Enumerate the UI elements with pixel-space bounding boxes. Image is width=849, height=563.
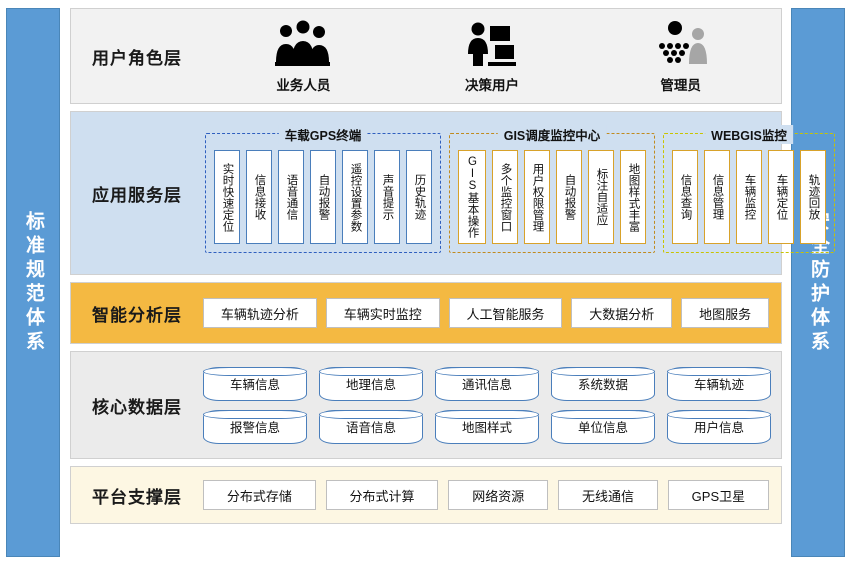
data-store-map-style[interactable]: 地图样式 [435,410,539,444]
layer-intelligent-analysis: 智能分析层 车辆轨迹分析 车辆实时监控 人工智能服务 大数据分析 地图服务 [70,282,782,344]
app-cell-auto-alarm[interactable]: 自动报警 [310,150,336,244]
person-presentation-icon [466,18,518,70]
app-cell-track-playback[interactable]: 轨迹回放 [800,150,826,244]
group-vehicle-gps-terminal: 车载GPS终端 实时快速定位 信息接收 语音通信 自动报警 遥控设置参数 声音提… [205,133,441,253]
layer-core-data-title: 核心数据层 [71,352,203,458]
app-cell-history-track[interactable]: 历史轨迹 [406,150,432,244]
role-administrator: 管理员 [606,18,756,94]
data-store-map-style-label: 地图样式 [462,417,512,436]
layer-intelligent-analysis-body: 车辆轨迹分析 车辆实时监控 人工智能服务 大数据分析 地图服务 [203,283,781,343]
group-webgis-monitor: WEBGIS监控 信息查询 信息管理 车辆监控 车辆定位 轨迹回放 [663,133,835,253]
layer-application-service-body: 车载GPS终端 实时快速定位 信息接收 语音通信 自动报警 遥控设置参数 声音提… [203,112,843,274]
group-webgis-monitor-title: WEBGIS监控 [705,125,793,144]
data-store-vehicle-track[interactable]: 车辆轨迹 [667,367,771,401]
app-cell-vehicle-positioning[interactable]: 车辆定位 [768,150,794,244]
app-cell-info-receive[interactable]: 信息接收 [246,150,272,244]
data-store-geo-info[interactable]: 地理信息 [319,367,423,401]
app-cell-annotation-adaptive[interactable]: 标注自适应 [588,150,614,244]
data-store-user-info[interactable]: 用户信息 [667,410,771,444]
layer-intelligent-analysis-title: 智能分析层 [71,283,203,343]
data-store-user-info-label: 用户信息 [694,417,744,436]
app-cell-multi-monitor-windows[interactable]: 多个监控窗口 [492,150,518,244]
platform-item-gps-satellite[interactable]: GPS卫星 [668,480,769,510]
data-store-unit-info[interactable]: 单位信息 [551,410,655,444]
platform-item-distributed-storage[interactable]: 分布式存储 [203,480,316,510]
role-business-staff-label: 业务人员 [276,74,330,94]
layer-user-role: 用户角色层 [70,8,782,104]
app-cell-gis-basic-ops[interactable]: GIS基本操作 [458,150,486,244]
app-cell-voice-comm[interactable]: 语音通信 [278,150,304,244]
data-store-unit-info-label: 单位信息 [578,417,628,436]
layer-stack: 用户角色层 [70,8,782,524]
layer-platform-support-body: 分布式存储 分布式计算 网络资源 无线通信 GPS卫星 [203,467,781,523]
admin-person-icon [653,18,709,70]
role-business-staff: 业务人员 [228,18,378,94]
analysis-item-vehicle-track-analysis[interactable]: 车辆轨迹分析 [203,298,317,328]
app-cell-info-manage[interactable]: 信息管理 [704,150,730,244]
app-cell-info-query[interactable]: 信息查询 [672,150,698,244]
data-store-system-data[interactable]: 系统数据 [551,367,655,401]
analysis-item-big-data-analysis[interactable]: 大数据分析 [571,298,672,328]
app-cell-gis-auto-alarm[interactable]: 自动报警 [556,150,582,244]
data-store-comm-info-label: 通讯信息 [462,374,512,393]
app-cell-rich-map-styles[interactable]: 地图样式丰富 [620,150,646,244]
left-pillar-label: 标准规范体系 [23,211,43,355]
data-store-vehicle-track-label: 车辆轨迹 [694,374,744,393]
layer-platform-support: 平台支撑层 分布式存储 分布式计算 网络资源 无线通信 GPS卫星 [70,466,782,524]
role-decision-user: 决策用户 [417,18,567,94]
data-store-system-data-label: 系统数据 [578,374,628,393]
core-data-row-2: 报警信息 语音信息 地图样式 单位信息 用户信息 [203,410,771,444]
platform-item-distributed-computing[interactable]: 分布式计算 [326,480,439,510]
group-gis-dispatch-center: GIS调度监控中心 GIS基本操作 多个监控窗口 用户权限管理 自动报警 标注自… [449,133,655,253]
platform-item-wireless-comm[interactable]: 无线通信 [558,480,658,510]
analysis-item-map-service[interactable]: 地图服务 [681,298,769,328]
layer-application-service: 应用服务层 车载GPS终端 实时快速定位 信息接收 语音通信 自动报警 遥控设置… [70,111,782,275]
left-pillar-standard-system: 标准规范体系 [6,8,60,557]
data-store-alarm-info[interactable]: 报警信息 [203,410,307,444]
layer-core-data: 核心数据层 车辆信息 地理信息 通讯信息 系统数据 车辆轨迹 报警信息 语音信息… [70,351,782,459]
app-cell-vehicle-monitor[interactable]: 车辆监控 [736,150,762,244]
app-cell-realtime-positioning[interactable]: 实时快速定位 [214,150,240,244]
architecture-diagram: 标准规范体系 安全防护体系 用户角色层 [0,0,849,563]
group-vehicle-gps-terminal-title: 车载GPS终端 [279,125,367,144]
data-store-vehicle-info[interactable]: 车辆信息 [203,367,307,401]
group-people-icon [272,18,334,70]
role-administrator-label: 管理员 [660,74,701,94]
app-cell-remote-params[interactable]: 遥控设置参数 [342,150,368,244]
data-store-vehicle-info-label: 车辆信息 [230,374,280,393]
right-pillar-security-system: 安全防护体系 [791,8,845,557]
app-cell-user-permission[interactable]: 用户权限管理 [524,150,550,244]
layer-platform-support-title: 平台支撑层 [71,467,203,523]
analysis-item-ai-service[interactable]: 人工智能服务 [449,298,563,328]
data-store-comm-info[interactable]: 通讯信息 [435,367,539,401]
data-store-voice-info[interactable]: 语音信息 [319,410,423,444]
data-store-voice-info-label: 语音信息 [346,417,396,436]
layer-user-role-body: 业务人员 决策用 [203,9,781,103]
app-cell-sound-prompt[interactable]: 声音提示 [374,150,400,244]
core-data-row-1: 车辆信息 地理信息 通讯信息 系统数据 车辆轨迹 [203,367,771,401]
role-decision-user-label: 决策用户 [465,74,519,94]
layer-core-data-body: 车辆信息 地理信息 通讯信息 系统数据 车辆轨迹 报警信息 语音信息 地图样式 … [203,352,781,458]
analysis-item-vehicle-realtime-monitor[interactable]: 车辆实时监控 [326,298,440,328]
group-gis-dispatch-center-title: GIS调度监控中心 [498,125,607,144]
platform-item-network-resource[interactable]: 网络资源 [448,480,548,510]
layer-application-service-title: 应用服务层 [71,112,203,274]
data-store-alarm-info-label: 报警信息 [230,417,280,436]
layer-user-role-title: 用户角色层 [71,9,203,103]
data-store-geo-info-label: 地理信息 [346,374,396,393]
